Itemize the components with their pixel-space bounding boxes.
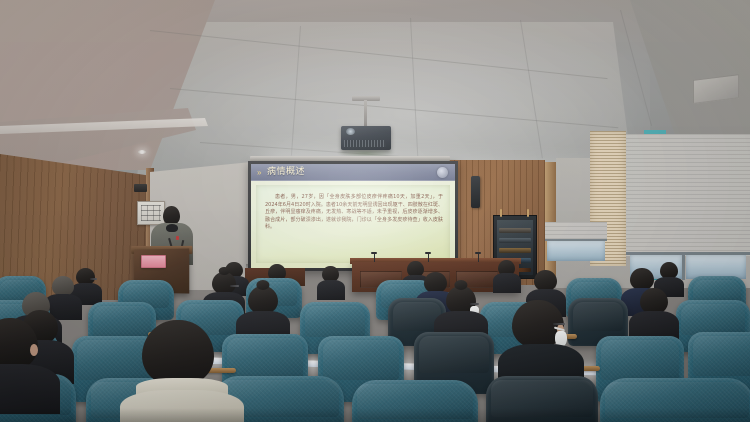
cabinet-hook bbox=[500, 209, 502, 217]
window-blind-grey[interactable] bbox=[626, 134, 750, 256]
microphone-head bbox=[371, 252, 377, 254]
presenter-collar bbox=[166, 224, 178, 232]
head bbox=[212, 272, 236, 294]
eyeglasses bbox=[553, 323, 565, 325]
lecture-hall-photo: » 病情概述 患者，男，27岁，因「全身皮肤多部位皮疹伴疼痛10天，加重2天」，… bbox=[0, 0, 750, 422]
wall-notice-board bbox=[137, 201, 165, 225]
hospital-emblem-icon bbox=[437, 167, 448, 178]
head bbox=[52, 276, 74, 296]
ear bbox=[30, 344, 38, 356]
eyeglasses bbox=[230, 285, 239, 287]
slide-body-text: 患者，男，27岁，因「全身皮肤多部位皮疹伴疼痛10天，加重2天」，于2024年6… bbox=[265, 194, 443, 232]
ceiling-downlight bbox=[138, 150, 146, 154]
projection-screen[interactable]: » 病情概述 患者，男，27岁，因「全身皮肤多部位皮疹伴疼痛10天，加重2天」，… bbox=[248, 161, 458, 271]
head bbox=[424, 272, 447, 293]
head bbox=[142, 320, 214, 386]
presenter-badge bbox=[176, 236, 179, 240]
slide-body: 患者，男，27岁，因「全身皮肤多部位皮疹伴疼痛10天，加重2天」，于2024年6… bbox=[256, 185, 450, 263]
head bbox=[534, 270, 557, 291]
head bbox=[630, 268, 654, 290]
rack-device bbox=[499, 238, 531, 243]
shoulders bbox=[317, 280, 345, 300]
eyeglasses bbox=[470, 303, 479, 305]
microphone-head bbox=[425, 252, 431, 254]
audience-seating bbox=[0, 258, 750, 422]
microphone-head bbox=[475, 252, 481, 254]
slide-bullet-icon: » bbox=[257, 168, 259, 177]
window-frame bbox=[545, 239, 607, 241]
eyeglasses bbox=[90, 278, 97, 280]
slide-title: 病情概述 bbox=[267, 167, 305, 178]
shoulders bbox=[0, 364, 60, 414]
slide-header-bar: » 病情概述 bbox=[251, 164, 455, 181]
projector-lens bbox=[346, 128, 355, 135]
rack-device bbox=[499, 228, 531, 233]
shoulders bbox=[493, 273, 521, 293]
wall-speaker bbox=[471, 176, 480, 208]
window-blind-grey[interactable] bbox=[545, 222, 607, 240]
wall-bracket bbox=[134, 184, 147, 192]
rack-device bbox=[499, 248, 531, 253]
projector-vent bbox=[344, 140, 386, 147]
cabinet-hook bbox=[527, 209, 529, 217]
notice-board-grid bbox=[141, 205, 161, 221]
foreground-shadow bbox=[0, 408, 750, 422]
head bbox=[248, 286, 278, 314]
